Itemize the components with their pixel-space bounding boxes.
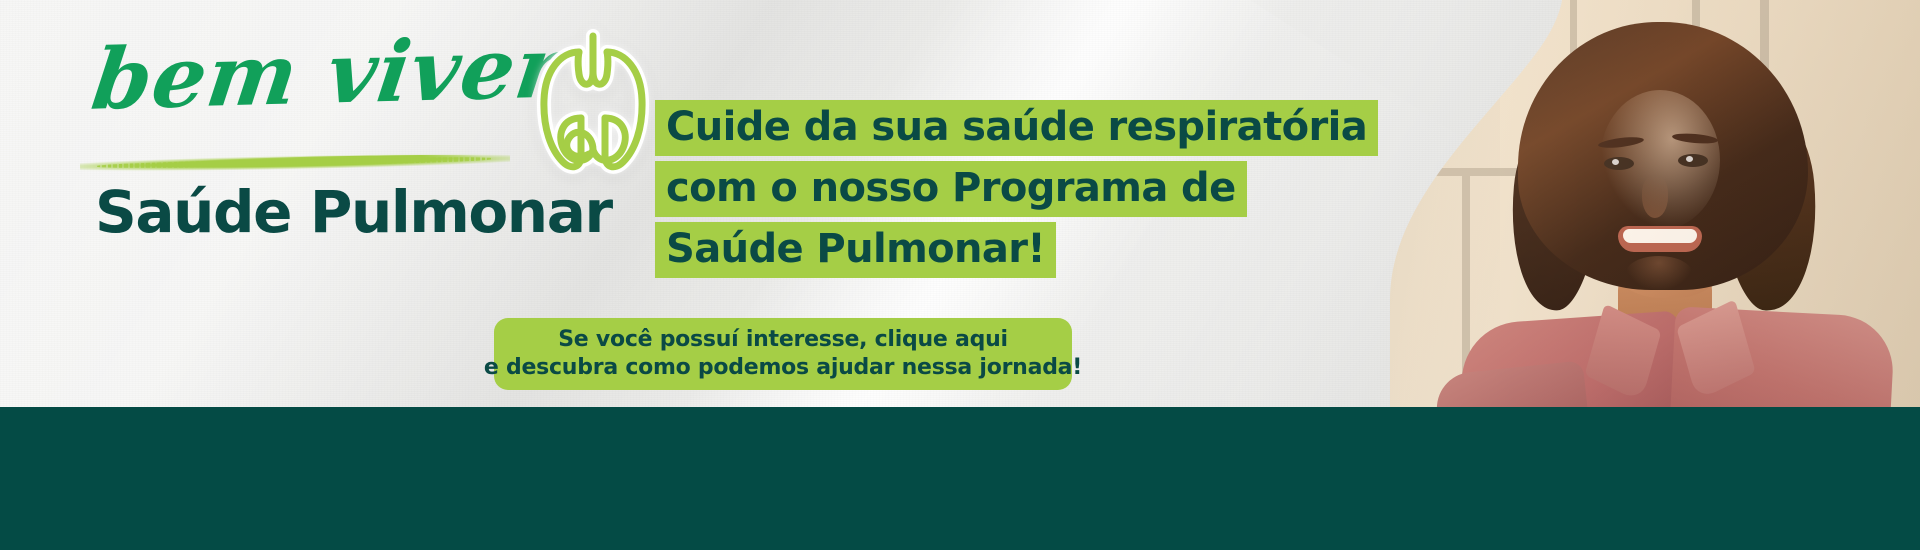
wall-panel-line — [1420, 0, 1429, 176]
nose — [1642, 176, 1668, 218]
chin-shading — [1626, 256, 1692, 290]
headline-line-2: com o nosso Programa de — [655, 161, 1247, 217]
eye-highlight-right — [1686, 156, 1693, 162]
health-campaign-banner: bem viver Saúde Pulmonar — [0, 0, 1920, 550]
cta-line-1: Se você possuí interesse, clique aqui — [558, 326, 1008, 354]
headline-line-3: Saúde Pulmonar! — [655, 222, 1056, 278]
headline-line-1: Cuide da sua saúde respiratória — [655, 100, 1378, 156]
cta-line-2: e descubra como podemos ajudar nessa jor… — [484, 354, 1082, 382]
brand-logo-lockup: bem viver Saúde Pulmonar — [85, 38, 605, 122]
eye-left — [1604, 157, 1634, 170]
mouth — [1618, 226, 1702, 252]
eye-highlight-left — [1612, 159, 1619, 165]
lungs-icon — [533, 22, 653, 182]
bottom-color-band — [0, 407, 1920, 550]
cta-button[interactable]: Se você possuí interesse, clique aqui e … — [494, 318, 1072, 390]
eye-right — [1678, 154, 1708, 167]
page-title: Saúde Pulmonar — [95, 183, 612, 241]
teeth — [1623, 229, 1697, 243]
headline-block: Cuide da sua saúde respiratória com o no… — [655, 100, 1378, 283]
